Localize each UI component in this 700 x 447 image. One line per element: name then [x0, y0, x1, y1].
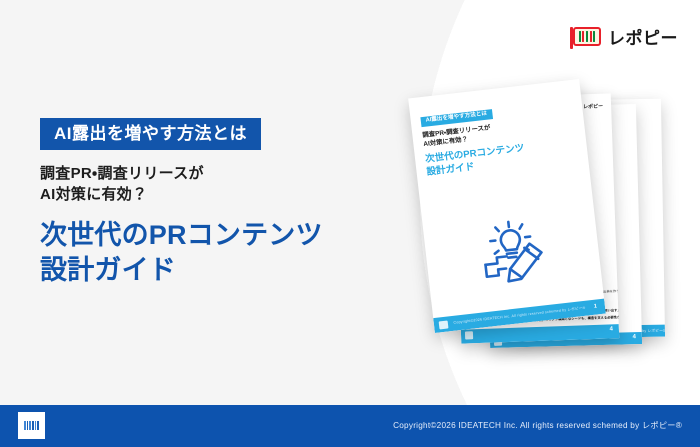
footer-logo-bars: [24, 421, 39, 430]
hero-badge: AI露出を増やす方法とは: [40, 118, 261, 150]
barcode-mark-icon: [18, 412, 45, 439]
hero-subtitle-line1: 調査PR・調査リリースが: [40, 163, 400, 184]
page-footer-mark-icon: [465, 331, 473, 339]
front-page-content: AI露出を増やす方法とは 調査PR・調査リリースが AI対策に有効？ 次世代のP…: [408, 79, 606, 333]
hero-copy: AI露出を増やす方法とは 調査PR・調査リリースが AI対策に有効？ 次世代のP…: [40, 118, 400, 289]
barcode-logo-icon: [573, 27, 601, 46]
page-footer: Copyright©2026 IDEATECH Inc. All rights …: [0, 405, 700, 447]
hero-title-line2: 設計ガイド: [40, 253, 400, 289]
brand-name: レポピー: [608, 24, 678, 49]
hero-subtitle-line2: AI対策に有効？: [40, 184, 400, 205]
document-page-front[interactable]: AI露出を増やす方法とは 調査PR・調査リリースが AI対策に有効？ 次世代のP…: [408, 79, 606, 333]
page-brand-name: レポピー: [583, 103, 603, 111]
document-stack: Copyright©2026 IDEATECH Inc. All rights …: [415, 78, 700, 368]
page-number: 4: [633, 334, 636, 340]
hero-title: 次世代のPRコンテンツ 設計ガイド: [40, 218, 400, 289]
brand-logo: レポピー: [573, 24, 678, 49]
front-page-number: 1: [594, 303, 598, 309]
hero-subtitle: 調査PR・調査リリースが AI対策に有効？: [40, 163, 400, 206]
hero-title-line1: 次世代のPRコンテンツ: [40, 218, 400, 254]
page-number: 4: [609, 326, 613, 332]
lightbulb-pencil-icon: [470, 207, 556, 287]
footer-copyright: Copyright©2026 IDEATECH Inc. All rights …: [393, 419, 682, 431]
slide-canvas: レポピー AI露出を増やす方法とは 調査PR・調査リリースが AI対策に有効？ …: [0, 0, 700, 447]
